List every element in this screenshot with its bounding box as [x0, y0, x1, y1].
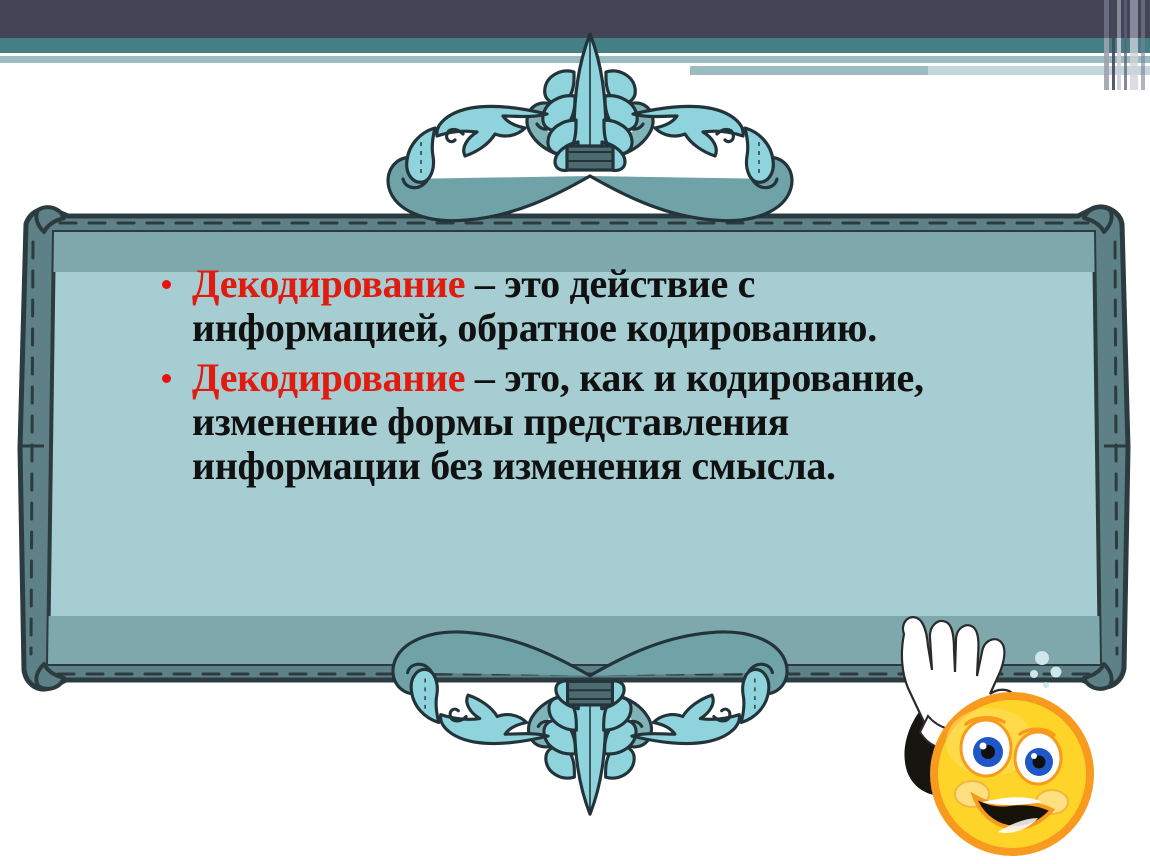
bullet-item-1: Декодирование – это действие с информаци…: [150, 262, 950, 350]
header-stripe-overlay-3: [1130, 38, 1138, 90]
bullet-1-keyword: Декодирование: [192, 261, 465, 306]
header-stripe-overlay-2: [1117, 38, 1121, 90]
header-stripe-2: [1112, 0, 1115, 90]
bullet-2-keyword: Декодирование: [192, 355, 465, 400]
bullet-list: Декодирование – это действие с информаци…: [150, 262, 950, 488]
board-text-block: Декодирование – это действие с информаци…: [150, 262, 950, 602]
header-stripe-6: [1141, 0, 1145, 90]
slide-canvas: Декодирование – это действие с информаци…: [0, 0, 1150, 864]
fleuron-bottom-icon: [355, 620, 825, 820]
header-stripe-4: [1124, 0, 1127, 90]
header-stripe-overlay-1: [1104, 38, 1109, 90]
fleuron-top-icon: [355, 28, 825, 233]
waving-smiley-icon: [886, 596, 1102, 862]
bullet-item-2: Декодирование – это, как и кодирование, …: [150, 356, 950, 488]
